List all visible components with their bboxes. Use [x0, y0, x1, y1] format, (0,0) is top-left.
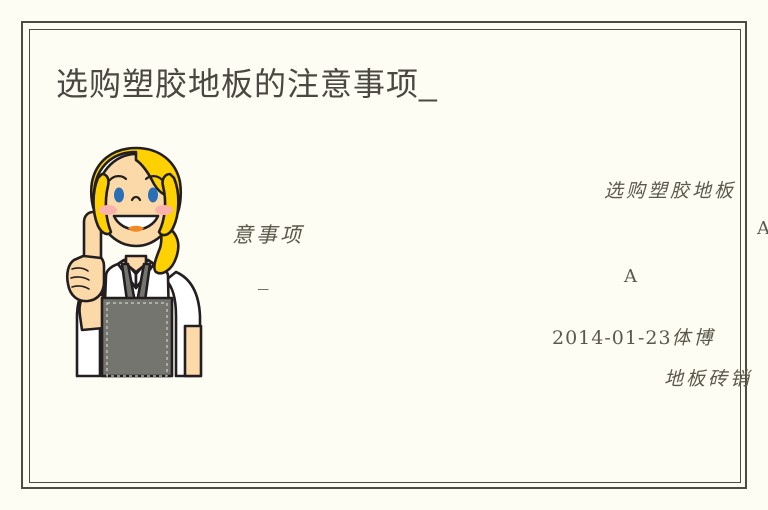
overlay-text-middle-underscore: _ — [258, 266, 269, 290]
cheek-left — [99, 205, 117, 215]
overlay-text-middle-fragment: 意事项 — [232, 219, 304, 249]
overlay-text-right-title: 选购塑胶地板 — [604, 176, 736, 203]
overlay-letter-a-mid: A — [624, 266, 637, 287]
apron-body — [102, 298, 172, 376]
overlay-text-date-line: 2014-01-23体博 — [552, 323, 716, 350]
page-title: 选购塑胶地板的注意事项_ — [56, 64, 438, 104]
eye-left — [114, 188, 124, 203]
article-thumbnail-canvas: 选购塑胶地板的注意事项_ 意事项 _ 选购塑胶地板 A A 2014-01-23… — [0, 0, 768, 510]
right-forearm — [185, 326, 201, 376]
overlay-text-bottom-fragment: 地板砖销 — [664, 364, 752, 391]
cartoon-woman-pointing-up-illustration — [56, 138, 216, 378]
eye-right — [148, 188, 158, 203]
overlay-date-suffix: 体博 — [672, 327, 716, 349]
overlay-letter-a-top: A — [757, 218, 768, 239]
overlay-date-value: 2014-01-23 — [552, 327, 672, 349]
cheek-right — [155, 205, 173, 215]
